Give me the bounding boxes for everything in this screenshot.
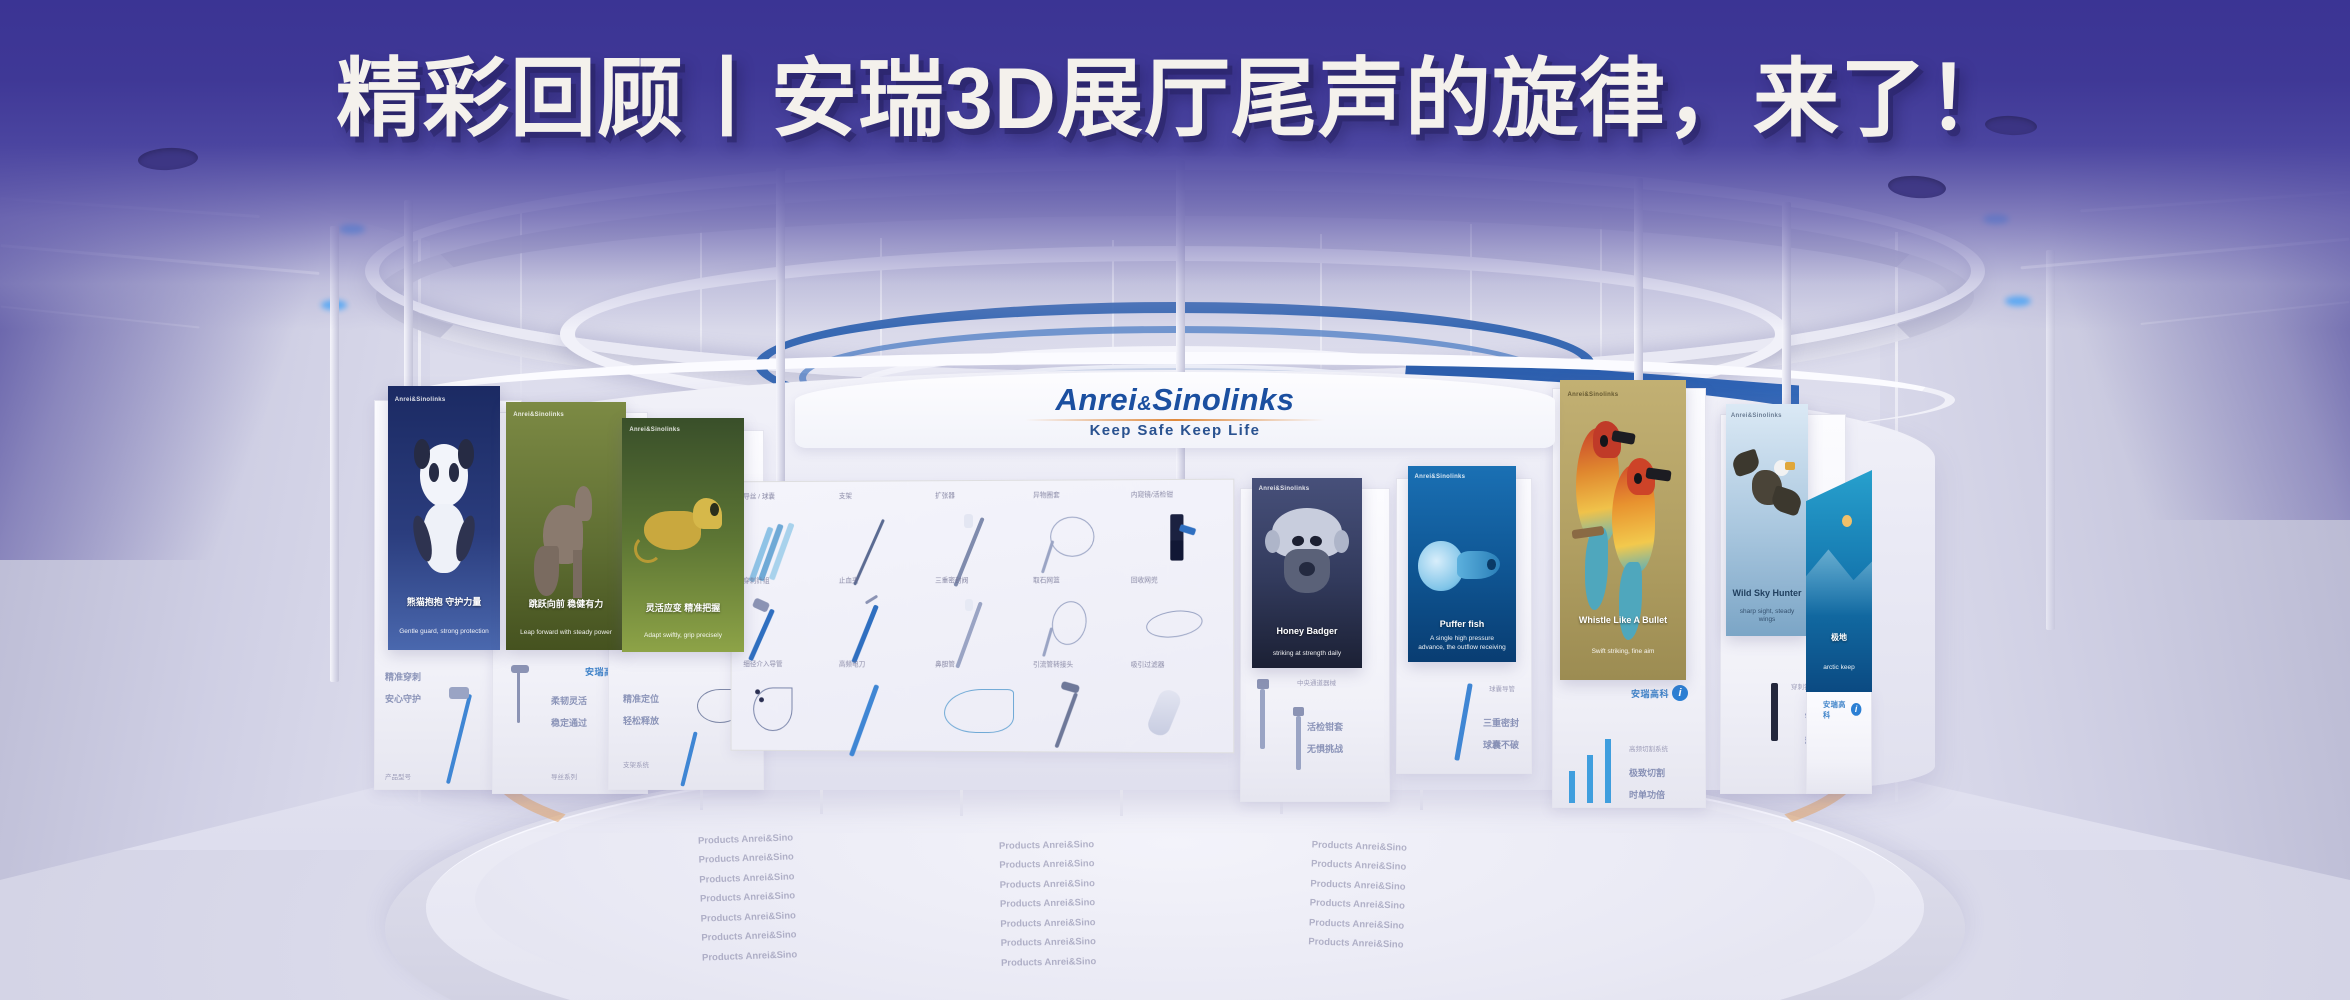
puffer-fish-graphic [1417,533,1508,600]
poster-subtitle: Leap forward with steady power [516,629,617,637]
poster-eagle[interactable]: Anrei&Sinolinks Wild Sky Hunter sharp si… [1726,404,1808,636]
product-label: 导丝 / 球囊 [743,492,775,502]
stand-sublabel: 球囊导管 [1489,685,1515,695]
stand-label-line2: 轻松释放 [623,715,659,729]
eagle-graphic [1733,446,1802,548]
product-grid-row: 细径介入导管 高频电刀 鼻胆管 引流管转接头 [739,660,1225,746]
poster-title: Whistle Like A Bullet [1568,615,1679,626]
product-cell[interactable]: 止血夹 [835,576,931,660]
page-title: 精彩回顾丨安瑞3D展厅尾声的旋律，来了！ [0,28,2350,153]
device-illustration [446,694,472,784]
product-label: 止血夹 [839,576,859,585]
product-label: 回收网兜 [1131,575,1158,585]
product-label: 引流管转接头 [1033,660,1073,670]
poster-brand: Anrei&Sinolinks [513,412,564,418]
product-art [845,513,920,566]
stand-label-line2: 稳定通过 [551,717,587,731]
stand-sublabel: 导丝系列 [551,773,577,783]
product-art [1136,683,1213,736]
chameleon-graphic [634,488,732,582]
product-art [1038,598,1114,651]
poster-subtitle: Gentle guard, strong protection [397,628,491,636]
product-label: 鼻胆管 [936,660,956,670]
product-label: 吸引过滤器 [1131,661,1165,671]
product-label: 穿刺针组 [743,576,769,585]
poster-title: Wild Sky Hunter [1731,588,1803,599]
exhibition-hall-banner: Anrei&Sinolinks Keep Safe Keep Life 导丝 /… [0,0,2350,1000]
product-cell[interactable]: 内窥镜/活检钳 [1127,490,1226,576]
poster-honey-badger[interactable]: Anrei&Sinolinks Honey Badger striking at… [1252,478,1362,668]
floor-list-line: Products Anrei&Sino [1001,932,1097,953]
stand-label-line2: 时单功倍 [1629,789,1665,803]
stand-sublabel: 产品型号 [385,773,411,783]
floor-list-line: Products Anrei&Sino [1308,933,1404,956]
poster-title: 跳跃向前 稳健有力 [513,599,619,610]
brand-logo: Anrei&Sinolinks [795,384,1555,417]
poster-title: Puffer fish [1414,619,1509,630]
device-illustration [1454,683,1472,761]
stand-label-line2: 无惧挑战 [1307,743,1343,757]
device-illustration [1257,679,1269,689]
product-art [941,598,1017,651]
product-cell[interactable]: 回收网兜 [1127,575,1226,660]
floor-list-line: Products Anrei&Sino [702,945,798,968]
product-grid-row: 穿刺针组 止血夹 三重密封阀 [739,575,1225,660]
ring-glow-light [2005,296,2031,306]
product-art [941,513,1017,566]
product-art [845,598,920,650]
panda-graphic [406,444,482,581]
sinolinks-mark-label: 安瑞高科 [1823,699,1848,720]
stand-label-line2: 安心守护 [385,693,421,707]
device-illustration [511,665,529,673]
stand-label-line1: 三重密封 [1483,717,1519,731]
floor-list-line: Products Anrei&Sino [1000,893,1096,914]
product-art [1038,512,1114,565]
product-label: 高频电刀 [839,660,865,670]
product-label: 支架 [839,492,852,502]
poster-title: 极地 [1810,633,1868,643]
stand-label-line1: 精准定位 [623,693,659,707]
device-illustration [1293,707,1304,716]
product-art [749,598,824,650]
sinolinks-i-icon: i [1851,703,1862,716]
poster-panda[interactable]: Anrei&Sinolinks 熊猫抱抱 守护力量 Gentle guard, … [388,386,500,650]
floor-list-line: Products Anrei&Sino [1000,913,1096,934]
device-handle [449,687,469,699]
honey-badger-graphic [1265,508,1349,614]
sinolinks-mark: 安瑞高科 i [1823,699,1861,720]
product-label: 三重密封阀 [936,576,969,586]
product-art [1136,597,1213,650]
poster-iceberg[interactable]: 极地 arctic keep [1806,470,1872,692]
product-cell[interactable]: 支架 [835,491,931,576]
product-art [749,682,824,734]
product-cell[interactable]: 取石网篮 [1029,575,1127,660]
product-art [749,514,824,566]
bee-eater-graphic [1570,428,1676,614]
product-label: 取石网篮 [1033,576,1060,586]
stand-iceberg[interactable]: 安瑞高科 i [1806,690,1872,794]
device-illustration [1260,689,1265,749]
kangaroo-graphic [530,486,602,600]
product-cell[interactable]: 异物圈套 [1029,490,1127,575]
product-cell[interactable]: 引流管转接头 [1029,660,1127,745]
poster-subtitle: A single high pressure advance, the outf… [1417,635,1508,652]
stand-label-line1: 精准穿刺 [385,671,421,685]
stand-label-line1: 活检钳套 [1307,721,1343,735]
product-art [941,682,1017,735]
product-art [1038,682,1114,735]
bar-chart-illustration [1567,733,1623,803]
poster-kangaroo[interactable]: Anrei&Sinolinks 跳跃向前 稳健有力 Leap forward w… [506,402,626,650]
poster-brand: Anrei&Sinolinks [629,427,680,433]
device-illustration [517,671,520,723]
product-art [845,682,920,735]
product-grid-panel[interactable]: 导丝 / 球囊 支架 扩张器 [731,479,1235,754]
product-cell[interactable]: 穿刺针组 [739,576,835,660]
poster-subtitle: arctic keep [1811,664,1866,672]
poster-subtitle: Swift striking, fine aim [1570,648,1676,656]
stand-sublabel: 中央通道器械 [1297,679,1336,689]
product-cell[interactable]: 导丝 / 球囊 [739,492,835,576]
product-label: 异物圈套 [1033,491,1060,501]
stand-label-line1: 柔韧灵活 [551,695,587,709]
poster-brand: Anrei&Sinolinks [1259,486,1310,492]
product-cell[interactable]: 鼻胆管 [932,660,1029,745]
poster-title: Honey Badger [1259,626,1356,637]
floor-list-line: Products Anrei&Sino [701,925,797,948]
stand-label-line1: 极致切割 [1629,767,1665,781]
brand-divider [1025,419,1325,421]
poster-subtitle: striking at strength daily [1261,650,1353,658]
product-cell[interactable]: 三重密封阀 [932,576,1029,661]
product-grid-row: 导丝 / 球囊 支架 扩张器 [739,490,1225,576]
ring-glow-light [1983,214,2009,224]
brand-header: Anrei&Sinolinks Keep Safe Keep Life [795,372,1555,448]
poster-subtitle: sharp sight, steady wings [1733,608,1802,625]
product-cell[interactable]: 吸引过滤器 [1127,661,1226,747]
poster-brand: Anrei&Sinolinks [1568,392,1619,398]
poster-title: 熊猫抱抱 守护力量 [395,597,494,608]
ring-support-post [776,168,785,498]
stand-sublabel: 高频切割系统 [1629,745,1668,755]
poster-brand: Anrei&Sinolinks [395,397,446,403]
ring-glow-light [339,224,365,234]
brand-name-right: Sinolinks [1152,382,1294,417]
stand-sublabel: 支架系统 [623,761,649,771]
poster-subtitle: Adapt swiftly, grip precisely [632,632,735,640]
ring-support-post [330,226,339,682]
device-illustration [1296,716,1301,770]
iceberg-graphic [1806,492,1872,616]
product-cell[interactable]: 细径介入导管 [739,660,835,744]
poster-brand: Anrei&Sinolinks [1414,474,1465,480]
device-illustration [680,731,697,786]
poster-bee-eater[interactable]: Anrei&Sinolinks Whistle Like A Bullet Sw… [1560,380,1686,680]
device-illustration [1771,683,1778,741]
stand-label-line2: 球囊不破 [1483,739,1519,753]
product-label: 细径介入导管 [743,660,782,669]
poster-puffer-fish[interactable]: Anrei&Sinolinks Puffer fish A single hig… [1408,466,1516,662]
sinolinks-mark-label: 安瑞高科 [1631,687,1669,700]
product-label: 内窥镜/活检钳 [1131,490,1173,500]
poster-brand: Anrei&Sinolinks [1731,413,1782,419]
sinolinks-mark: 安瑞高科 i [1631,685,1688,701]
sinolinks-i-icon: i [1672,685,1688,701]
poster-title: 灵活应变 精准把握 [629,603,736,614]
brand-ampersand: & [1137,393,1152,415]
product-label: 扩张器 [936,491,956,501]
product-cell[interactable]: 高频电刀 [835,660,931,745]
product-art [1136,512,1213,565]
poster-chameleon[interactable]: Anrei&Sinolinks 灵活应变 精准把握 Adapt swiftly,… [622,418,744,652]
brand-name-left: Anrei [1055,382,1137,417]
brand-tagline: Keep Safe Keep Life [795,422,1555,439]
floor-list-line: Products Anrei&Sino [1001,952,1097,973]
product-cell[interactable]: 扩张器 [932,491,1029,576]
